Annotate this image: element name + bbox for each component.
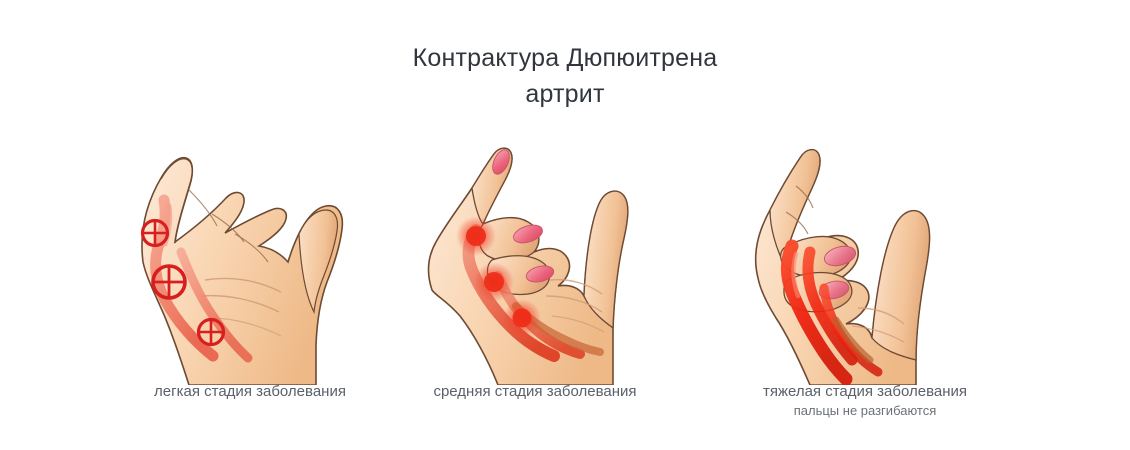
pain-marker-palm-cord	[199, 320, 224, 345]
dupuytren-contracture-infographic: Контрактура Дюпюитрена артрит	[0, 0, 1130, 450]
inflamed-joint-nodule	[513, 309, 532, 328]
pain-marker-mcp-joint	[153, 266, 185, 298]
inflamed-joint-nodule	[466, 226, 486, 246]
hand-illustration-mild	[85, 130, 415, 385]
stage-subcaption-severe: пальцы не разгибаются	[700, 402, 1030, 420]
page-title: Контрактура Дюпюитрена	[0, 40, 1130, 76]
stage-panels: легкая стадия заболевания	[0, 130, 1130, 450]
stage-caption-severe: тяжелая стадия заболевания	[700, 382, 1030, 402]
inflamed-joint-nodule	[484, 272, 504, 292]
stage-caption-moderate: средняя стадия заболевания	[370, 382, 700, 402]
hand-illustration-severe	[700, 130, 1030, 385]
stage-panel-moderate: средняя стадия заболевания	[370, 130, 700, 450]
thumb	[872, 211, 930, 360]
hand-illustration-moderate	[370, 130, 700, 385]
stage-panel-mild: легкая стадия заболевания	[85, 130, 415, 450]
stage-caption-mild: легкая стадия заболевания	[85, 382, 415, 402]
thumb	[584, 191, 628, 328]
pain-marker-pip-joint	[143, 221, 168, 246]
title-block: Контрактура Дюпюитрена артрит	[0, 40, 1130, 112]
stage-panel-severe: тяжелая стадия заболевания пальцы не раз…	[700, 130, 1030, 450]
page-subtitle: артрит	[0, 76, 1130, 112]
